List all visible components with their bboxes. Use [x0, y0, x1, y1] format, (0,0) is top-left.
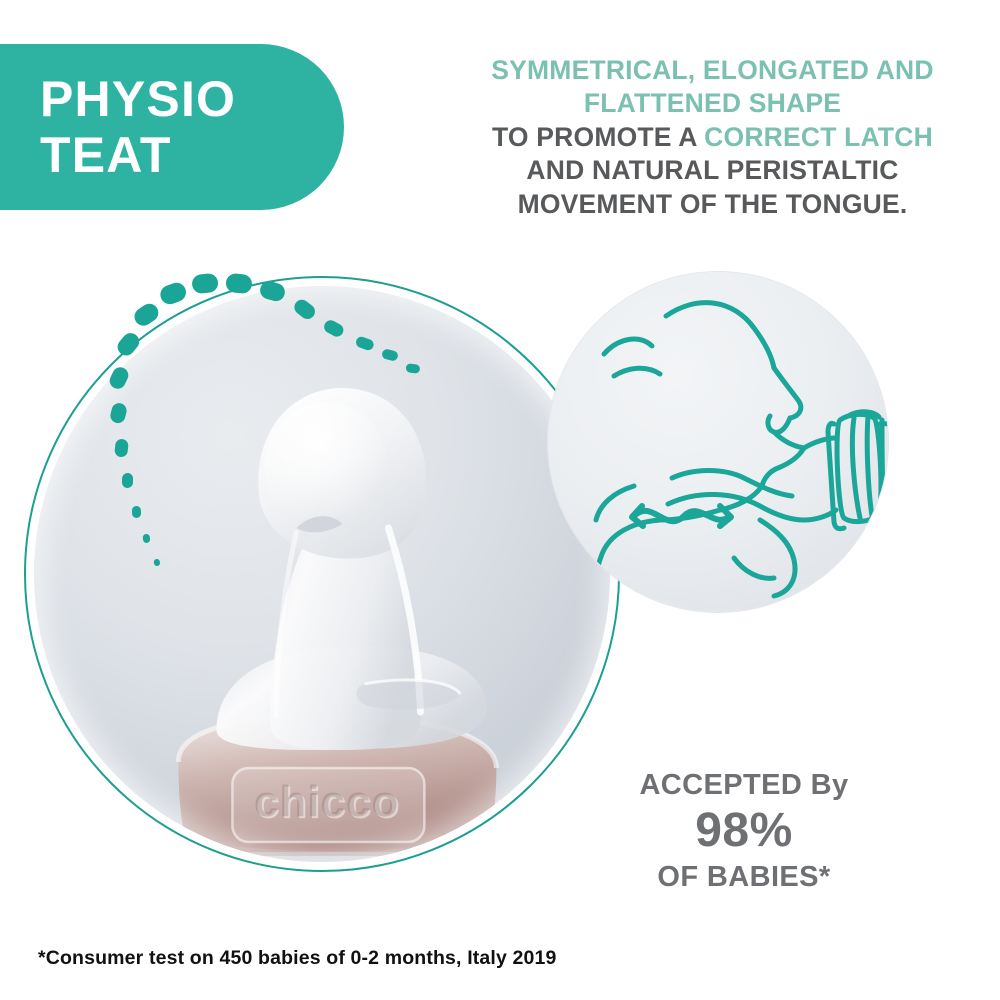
stat-label-top: ACCEPTED By — [608, 770, 880, 802]
headline-highlight-correct-latch: CORRECT LATCH — [704, 122, 933, 152]
physio-teat-badge: PHYSIO TEAT — [0, 44, 344, 210]
product-circle-ring — [24, 276, 620, 872]
stat-label-bottom: OF BABIES* — [608, 862, 880, 894]
headline-line-2: FLATTENED SHAPE — [440, 87, 985, 120]
acceptance-stat: ACCEPTED By 98% OF BABIES* — [608, 770, 880, 894]
promo-canvas: PHYSIO TEAT SYMMETRICAL, ELONGATED AND F… — [0, 0, 1000, 1000]
headline-line-1: SYMMETRICAL, ELONGATED AND — [440, 54, 985, 87]
stat-value: 98% — [608, 804, 880, 858]
headline-line-4: AND NATURAL PERISTALTIC — [440, 154, 985, 187]
headline-line-3: TO PROMOTE A CORRECT LATCH — [440, 121, 985, 154]
headline-line-5: MOVEMENT OF THE TONGUE. — [440, 188, 985, 221]
baby-feeding-line-art — [548, 272, 888, 612]
headline: SYMMETRICAL, ELONGATED AND FLATTENED SHA… — [440, 54, 985, 221]
footnote: *Consumer test on 450 babies of 0-2 mont… — [38, 947, 557, 970]
badge-line-2: TEAT — [40, 127, 344, 183]
feeding-illustration-circle — [548, 272, 888, 612]
headline-line-3-prefix: TO PROMOTE A — [492, 122, 704, 152]
badge-line-1: PHYSIO — [40, 71, 344, 127]
product-photo-circle: chicco chicco — [24, 276, 620, 872]
